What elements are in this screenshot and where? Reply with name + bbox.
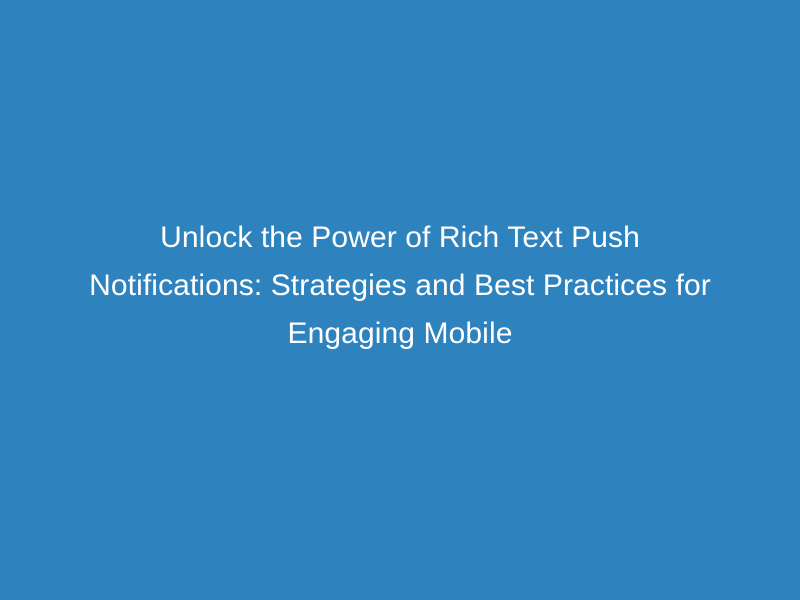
page-title: Unlock the Power of Rich Text Push Notif… [70,214,730,358]
banner-title-block: Unlock the Power of Rich Text Push Notif… [70,214,730,358]
article-hero-banner: Unlock the Power of Rich Text Push Notif… [0,0,800,600]
